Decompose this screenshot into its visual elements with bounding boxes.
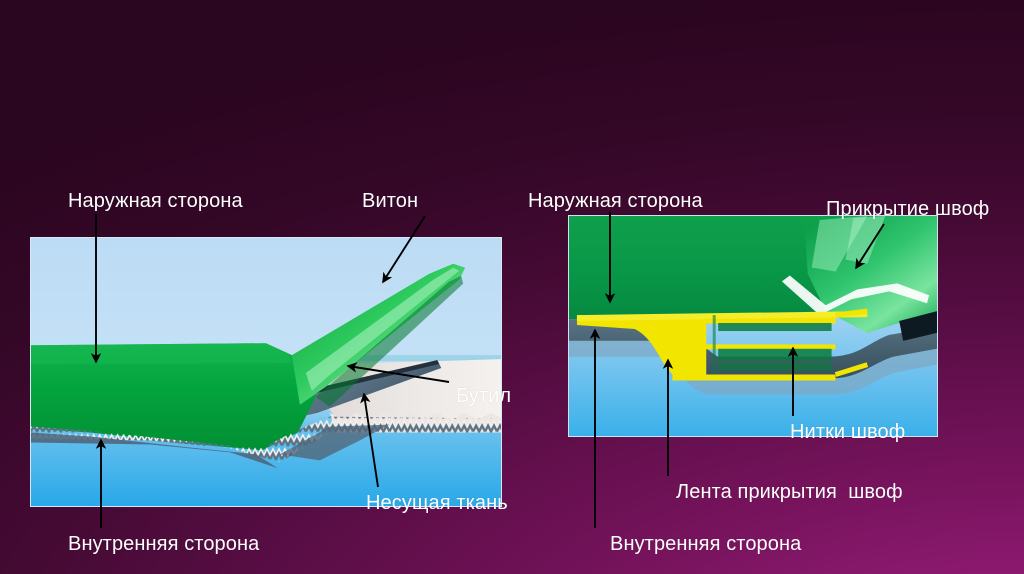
label-seam-threads: Нитки швоф [790,421,905,444]
label-outer-side-left: Наружная сторона [68,190,243,213]
label-butyl: Бутил [456,385,511,408]
label-carrier-fabric: Несущая ткань [366,492,508,515]
left-cross-section-drawing [31,238,501,506]
label-outer-side-right: Наружная сторона [528,190,703,213]
figure-right-seam-overlap [568,215,938,437]
label-inner-side-right: Внутренняя сторона [610,533,801,556]
figure-left-seam-edge [30,237,502,507]
label-inner-side-left: Внутренняя сторона [68,533,259,556]
label-viton: Витон [362,190,418,213]
label-cover-tape: Лента прикрытия швоф [676,481,903,504]
slide-canvas: Наружная сторона Витон Бутил Несущая тка… [0,0,1024,574]
right-cross-section-drawing [569,216,937,436]
label-seam-cover: Прикрытие швоф [826,198,989,221]
